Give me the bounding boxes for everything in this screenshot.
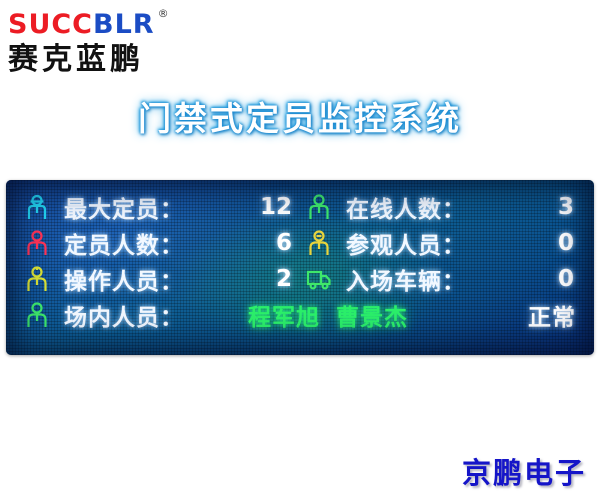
led-field-max-capacity: 最大定员： 12 [24,189,306,225]
led-value: 12 [260,194,306,220]
led-value: 3 [558,194,582,220]
led-value: 0 [558,266,582,292]
person-operator-icon [24,265,50,293]
truck-icon [306,265,332,293]
led-value: 2 [276,266,306,292]
led-value: 6 [276,230,306,256]
led-label: 操作人员： [64,262,184,296]
person-name: 程军旭 [248,305,320,331]
led-field-onsite-personnel: 场内人员： 程军旭曹景杰 正常 [24,297,584,333]
onsite-personnel-names: 程军旭曹景杰 [248,298,408,332]
registered-trademark-icon: ® [158,0,170,30]
led-display-panel: 最大定员： 12 在线人数： 3 [6,180,594,355]
brand-wordmark-red: SUCC [8,9,93,40]
led-label: 参观人员： [346,226,466,260]
person-visitor-icon [306,229,332,257]
person-helmet-icon [24,193,50,221]
footer-company-mark: 京鹏电子 [462,450,586,492]
led-field-operator-count: 操作人员： 2 [24,261,306,297]
led-label: 最大定员： [64,190,184,224]
led-label: 入场车辆： [346,262,466,296]
page-title: 门禁式定员监控系统 [0,92,600,140]
led-label: 定员人数： [64,226,184,260]
led-field-online-count: 在线人数： 3 [306,189,582,225]
person-name: 曹景杰 [336,305,408,331]
led-field-quota-count: 定员人数： 6 [24,225,306,261]
led-row: 操作人员： 2 入场车辆： 0 [24,261,584,297]
person-icon [24,229,50,257]
led-value: 0 [558,230,582,256]
status-badge: 正常 [528,298,584,332]
brand-wordmark-blue: BLR [93,9,155,40]
led-row: 定员人数： 6 参观人员： 0 [24,225,584,261]
led-label: 场内人员： [64,298,184,332]
led-row: 最大定员： 12 在线人数： 3 [24,189,584,225]
led-label: 在线人数： [346,190,466,224]
led-content: 最大定员： 12 在线人数： 3 [6,180,594,355]
led-field-vehicle-count: 入场车辆： 0 [306,261,582,297]
led-field-visitor-count: 参观人员： 0 [306,225,582,261]
person-onsite-icon [24,301,50,329]
brand-wordmark: SUCCBLR® [8,4,208,41]
brand-logo: SUCCBLR® 赛克蓝鹏 [8,4,208,76]
brand-chinese-name: 赛克蓝鹏 [8,42,208,78]
person-online-icon [306,193,332,221]
